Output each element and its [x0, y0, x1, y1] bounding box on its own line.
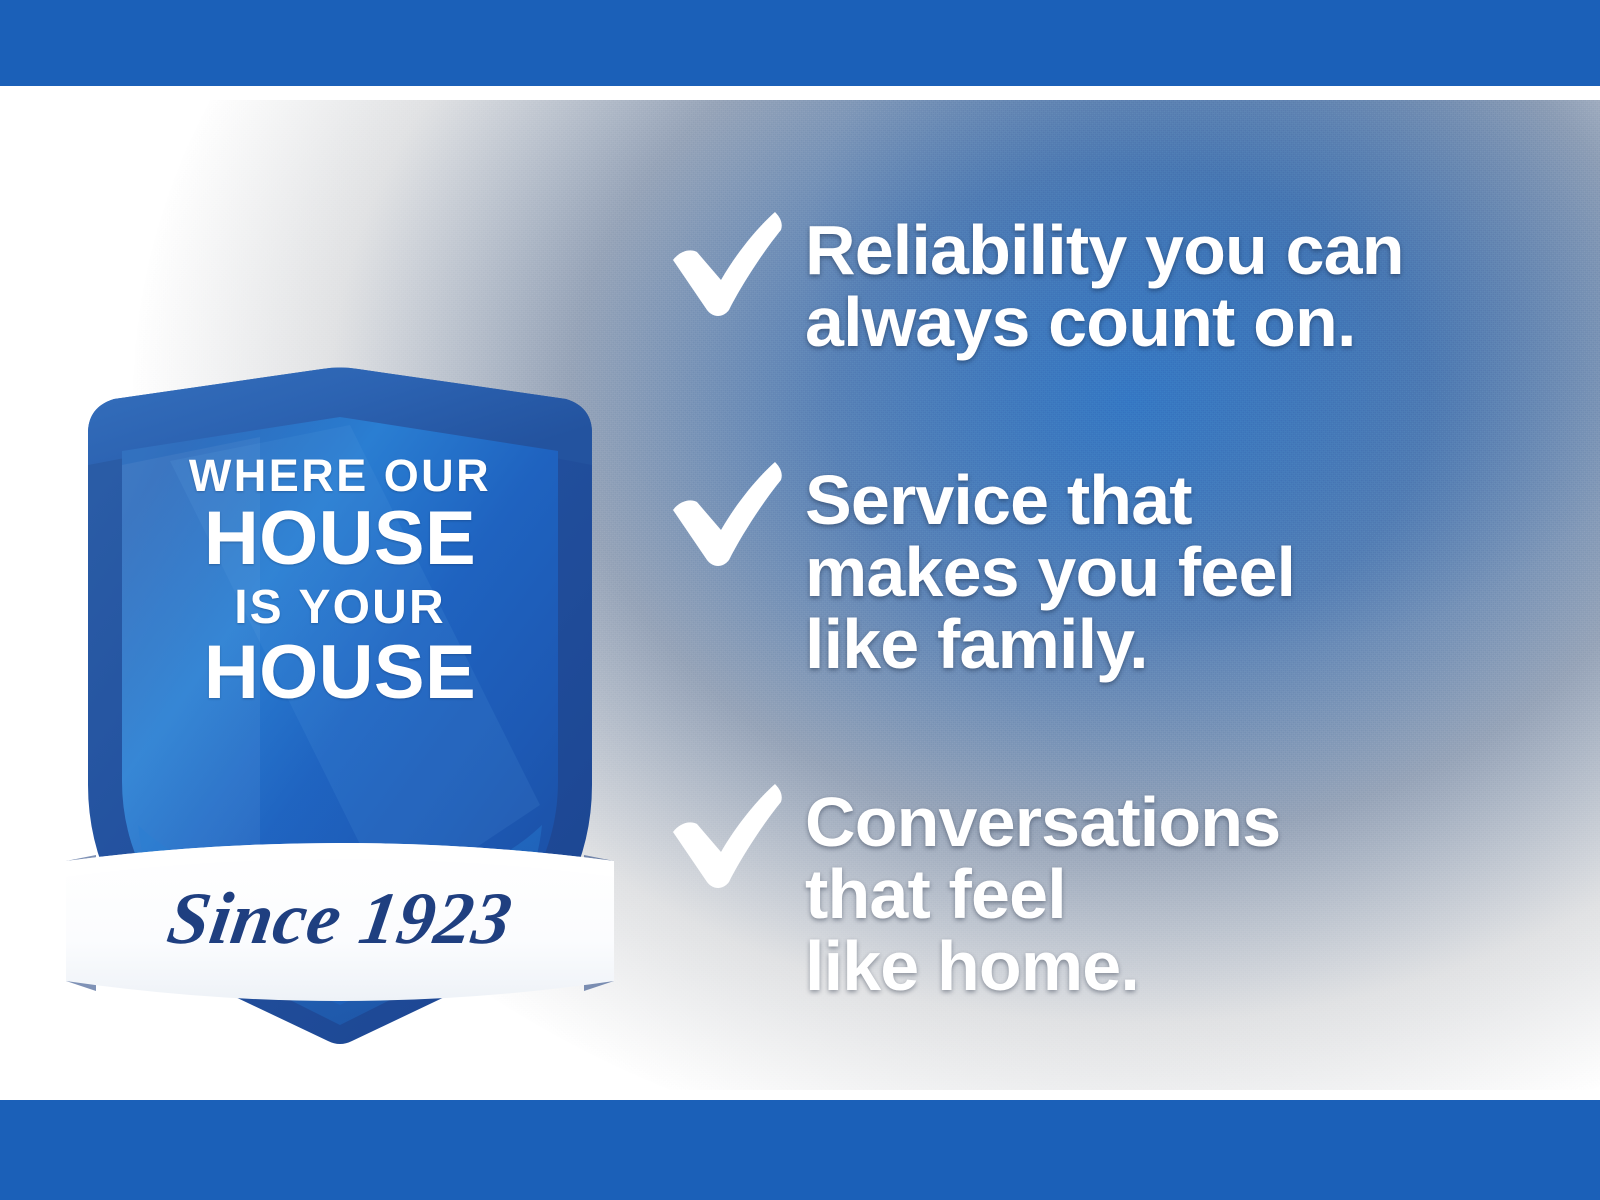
benefit-1-line-1: Reliability you can: [805, 214, 1404, 286]
benefit-text-2: Service that makes you feel like family.: [805, 458, 1295, 680]
benefit-3-line-3: like home.: [805, 930, 1280, 1002]
benefit-text-1: Reliability you can always count on.: [805, 208, 1404, 358]
benefit-3-line-1: Conversations: [805, 786, 1280, 858]
bottom-white-divider: [0, 1090, 1600, 1100]
benefit-item-2: Service that makes you feel like family.: [665, 458, 1295, 680]
check-icon: [665, 208, 787, 320]
main-panel: Where Our House Is Your House Since 1923: [0, 100, 1600, 1090]
benefit-2-line-3: like family.: [805, 608, 1295, 680]
benefit-item-3: Conversations that feel like home.: [665, 780, 1280, 1002]
promo-graphic: Where Our House Is Your House Since 1923: [0, 0, 1600, 1200]
top-white-divider: [0, 86, 1600, 100]
benefit-1-line-2: always count on.: [805, 286, 1404, 358]
benefit-3-line-2: that feel: [805, 858, 1280, 930]
check-icon: [665, 780, 787, 892]
benefit-2-line-2: makes you feel: [805, 536, 1295, 608]
top-brand-band: [0, 0, 1600, 86]
bottom-brand-band: [0, 1100, 1600, 1200]
benefits-list: Reliability you can always count on. Ser…: [665, 100, 1565, 1090]
shield-graphic: [60, 265, 620, 1055]
check-icon: [665, 458, 787, 570]
benefit-2-line-1: Service that: [805, 464, 1295, 536]
benefit-text-3: Conversations that feel like home.: [805, 780, 1280, 1002]
benefit-item-1: Reliability you can always count on.: [665, 208, 1404, 358]
shield-badge: Where Our House Is Your House Since 1923: [60, 265, 620, 1055]
